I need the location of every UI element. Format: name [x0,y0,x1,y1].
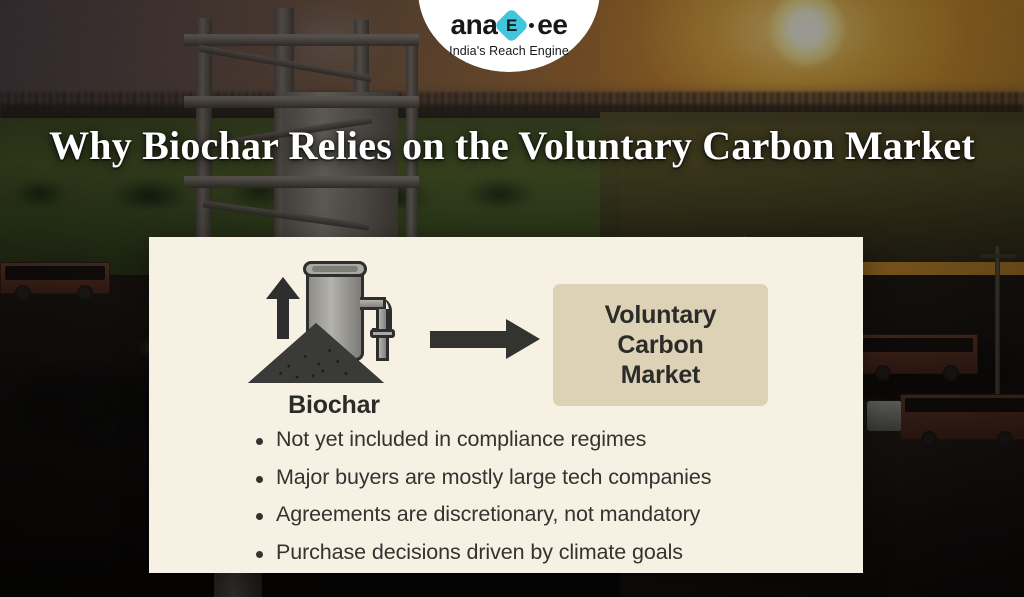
brand-dot-icon [529,23,534,28]
biochar-label: Biochar [244,391,424,420]
content-card: Biochar Voluntary Carbon Market Not yet … [149,237,863,573]
brand-word-part-2: ee [537,11,567,39]
brand-word-part-1: ana [451,11,498,39]
brand-tagline: India's Reach Engine [449,44,569,58]
biochar-icon-group: Biochar [244,251,424,421]
bullet-list: Not yet included in compliance regimes M… [254,429,854,563]
brand-mark-letter: E [506,17,517,34]
list-item: Major buyers are mostly large tech compa… [254,467,854,489]
voluntary-carbon-market-box: Voluntary Carbon Market [553,284,768,406]
brand-wordmark: ana E ee [451,11,568,39]
list-item: Purchase decisions driven by climate goa… [254,542,854,564]
list-item: Not yet included in compliance regimes [254,429,854,451]
list-item: Agreements are discretionary, not mandat… [254,504,854,526]
flow-diagram: Biochar Voluntary Carbon Market [149,251,863,421]
brand-diamond-icon: E [494,7,529,42]
right-arrow-icon [430,319,540,359]
biochar-pile-icon [248,321,384,383]
voluntary-carbon-market-label: Voluntary Carbon Market [605,300,717,390]
page-title: Why Biochar Relies on the Voluntary Carb… [0,122,1024,171]
